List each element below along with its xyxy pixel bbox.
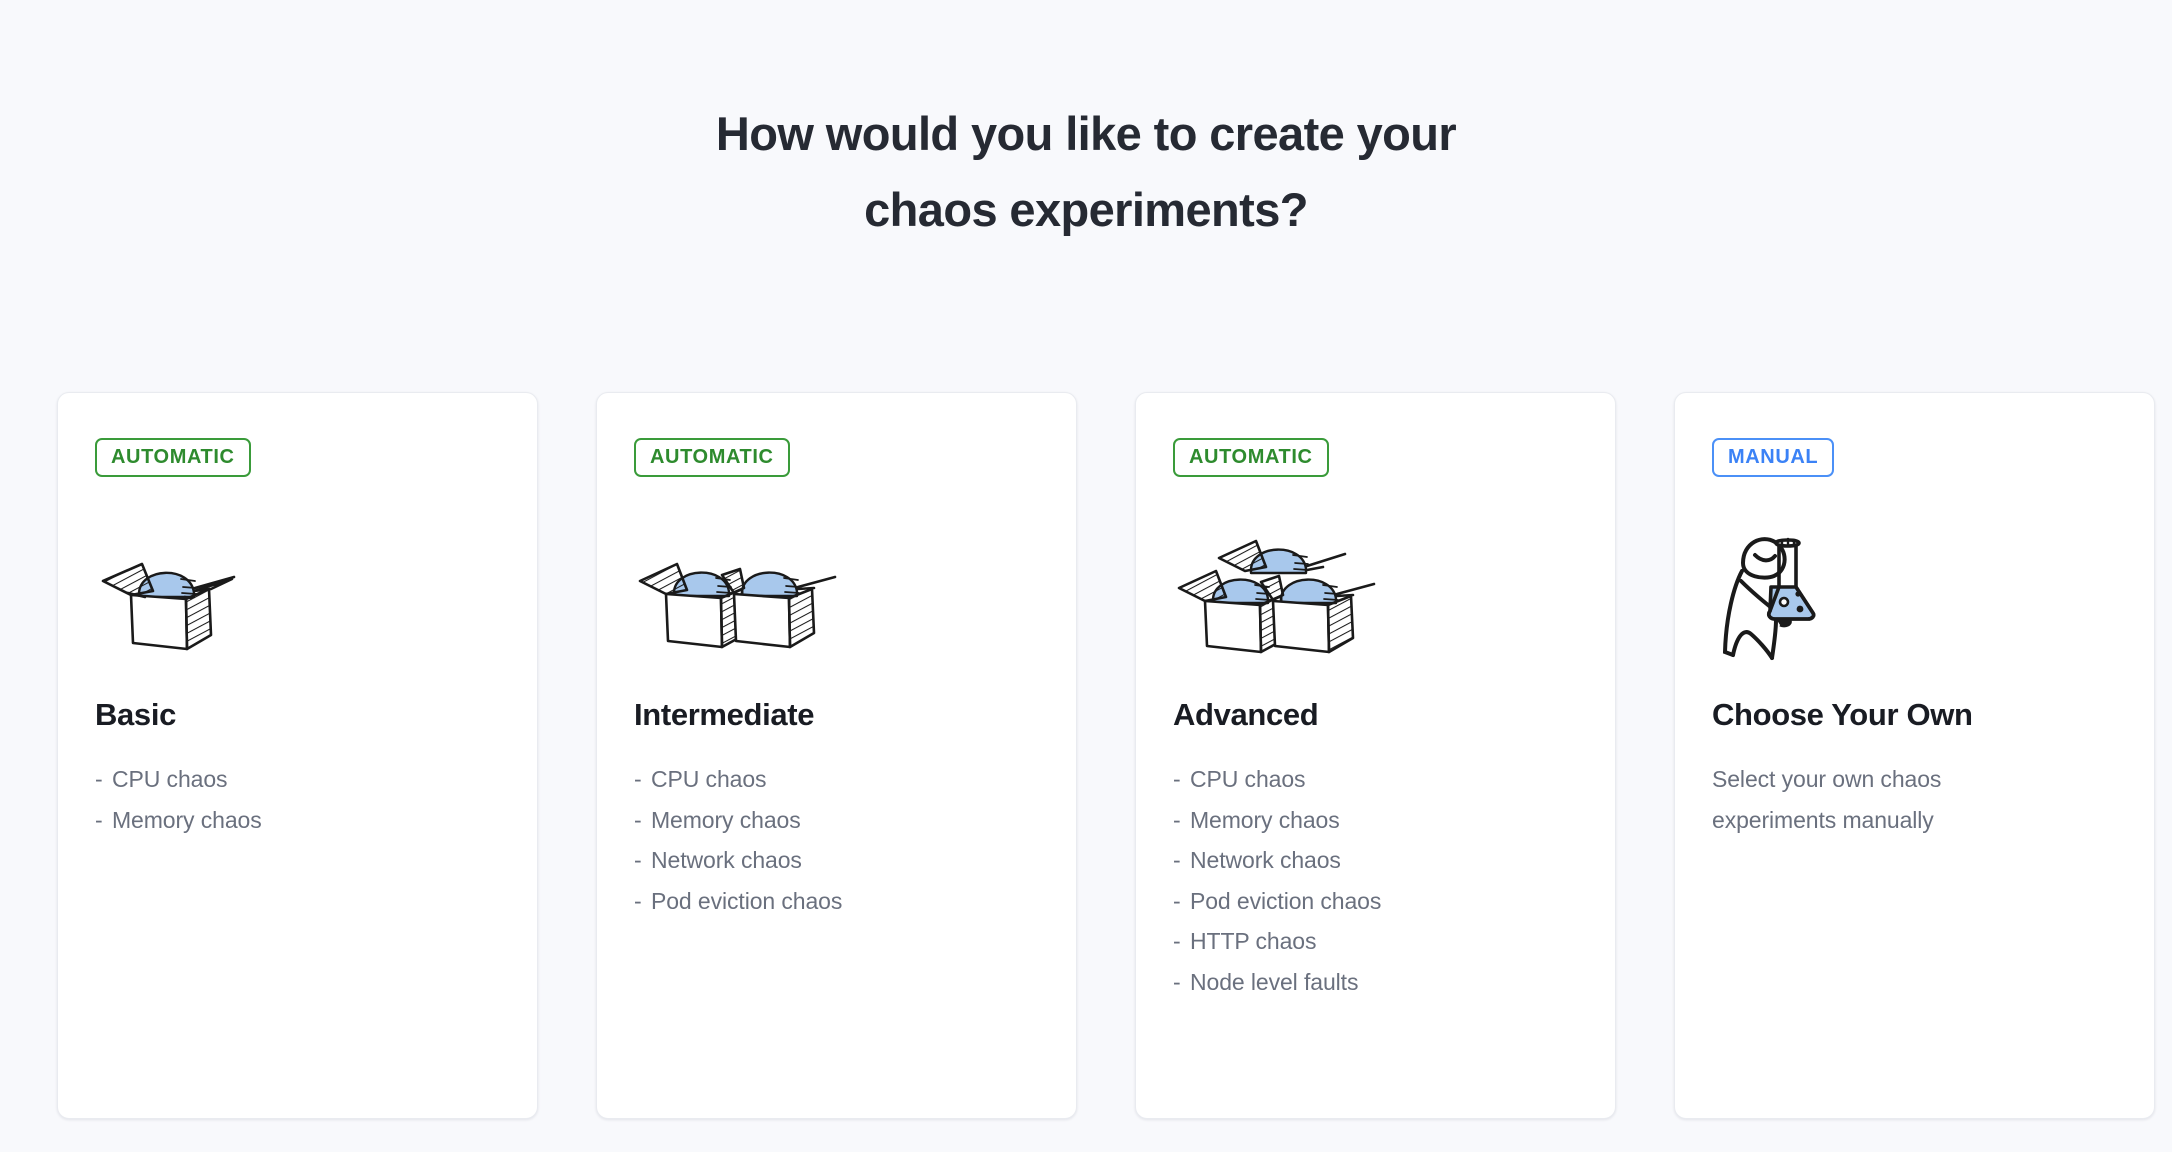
scientist-with-flask-icon	[1712, 521, 2117, 671]
status-badge: MANUAL	[1712, 438, 1834, 477]
feature-list: -CPU chaos -Memory chaos	[95, 759, 500, 840]
status-badge: AUTOMATIC	[634, 438, 790, 477]
list-item-label: Pod eviction chaos	[1190, 888, 1381, 914]
one-open-box-icon	[95, 521, 500, 671]
list-marker: -	[95, 800, 112, 841]
experiment-option-cards: AUTOMATIC	[57, 392, 2155, 1119]
list-marker: -	[634, 800, 651, 841]
two-open-boxes-icon	[634, 521, 1039, 671]
list-marker: -	[1173, 962, 1190, 1003]
list-marker: -	[1173, 800, 1190, 841]
list-marker: -	[1173, 759, 1190, 800]
page-title-line-2: chaos experiments?	[0, 172, 2172, 248]
card-title: Advanced	[1173, 697, 1578, 733]
list-item: -Network chaos	[634, 840, 1039, 881]
list-marker: -	[1173, 921, 1190, 962]
list-item: -Pod eviction chaos	[1173, 881, 1578, 922]
list-item: -Memory chaos	[1173, 800, 1578, 841]
list-item-label: CPU chaos	[112, 766, 227, 792]
list-item: -Memory chaos	[634, 800, 1039, 841]
list-item-label: Memory chaos	[651, 807, 801, 833]
card-title: Basic	[95, 697, 500, 733]
create-experiment-page: How would you like to create your chaos …	[0, 0, 2172, 1152]
experiment-card-basic[interactable]: AUTOMATIC	[57, 392, 538, 1119]
list-item-label: Node level faults	[1190, 969, 1358, 995]
experiment-card-advanced[interactable]: AUTOMATIC	[1135, 392, 1616, 1119]
list-item-label: Pod eviction chaos	[651, 888, 842, 914]
card-description: Select your own chaos experiments manual…	[1712, 759, 2012, 840]
list-marker: -	[1173, 881, 1190, 922]
list-item: -Pod eviction chaos	[634, 881, 1039, 922]
three-open-boxes-icon	[1173, 521, 1578, 671]
list-item-label: CPU chaos	[651, 766, 766, 792]
list-item: -CPU chaos	[1173, 759, 1578, 800]
card-title: Choose Your Own	[1712, 697, 2117, 733]
experiment-card-intermediate[interactable]: AUTOMATIC	[596, 392, 1077, 1119]
list-item-label: Memory chaos	[112, 807, 262, 833]
list-item-label: HTTP chaos	[1190, 928, 1316, 954]
status-badge: AUTOMATIC	[95, 438, 251, 477]
list-item: -Memory chaos	[95, 800, 500, 841]
list-item-label: Memory chaos	[1190, 807, 1340, 833]
list-marker: -	[634, 881, 651, 922]
feature-list: -CPU chaos -Memory chaos -Network chaos …	[634, 759, 1039, 921]
page-title: How would you like to create your chaos …	[0, 96, 2172, 248]
list-item: -Node level faults	[1173, 962, 1578, 1003]
list-marker: -	[1173, 840, 1190, 881]
list-item-label: CPU chaos	[1190, 766, 1305, 792]
list-item: -Network chaos	[1173, 840, 1578, 881]
list-item: -CPU chaos	[634, 759, 1039, 800]
list-item-label: Network chaos	[651, 847, 802, 873]
card-title: Intermediate	[634, 697, 1039, 733]
list-marker: -	[95, 759, 112, 800]
list-item: -CPU chaos	[95, 759, 500, 800]
list-item: -HTTP chaos	[1173, 921, 1578, 962]
list-marker: -	[634, 759, 651, 800]
status-badge: AUTOMATIC	[1173, 438, 1329, 477]
experiment-card-choose-your-own[interactable]: MANUAL	[1674, 392, 2155, 1119]
page-title-line-1: How would you like to create your	[0, 96, 2172, 172]
list-item-label: Network chaos	[1190, 847, 1341, 873]
list-marker: -	[634, 840, 651, 881]
feature-list: -CPU chaos -Memory chaos -Network chaos …	[1173, 759, 1578, 1002]
